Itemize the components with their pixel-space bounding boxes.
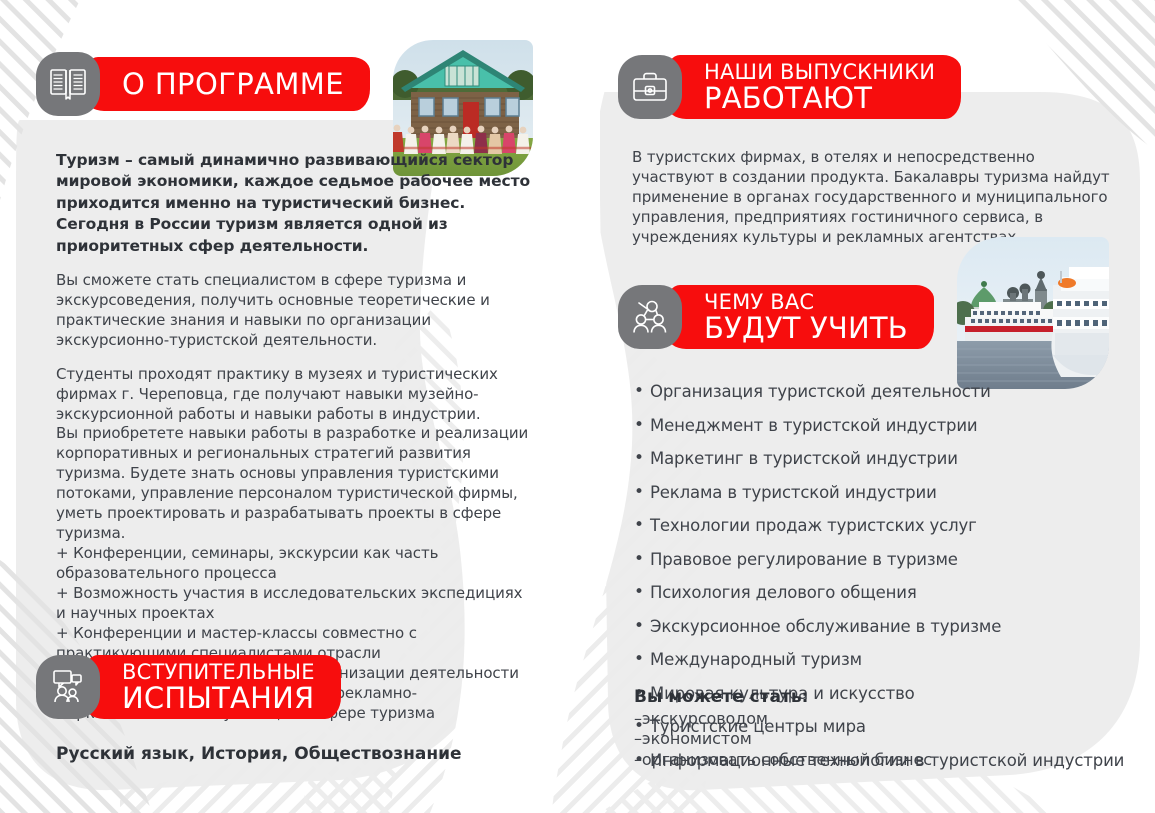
open-book-icon (36, 52, 100, 116)
list-item: Организация туристской деятельности (634, 384, 1134, 401)
list-item: Менеджмент в туристской индустрии (634, 418, 1134, 435)
list-item: Международный туризм (634, 652, 1134, 669)
about-paragraph-1: Вы сможете стать специалистом в сфере ту… (56, 271, 536, 351)
banner-about: О ПРОГРАММЕ (36, 52, 370, 116)
graduates-title-line1: НАШИ ВЫПУСКНИКИ (704, 62, 935, 83)
exams-title-ribbon: ВСТУПИТЕЛЬНЫЕ ИСПЫТАНИЯ (84, 655, 341, 719)
about-title-ribbon: О ПРОГРАММЕ (84, 57, 370, 111)
list-item: Психология делового общения (634, 585, 1134, 602)
group-teaching-icon (618, 285, 682, 349)
become-item: –экономистом (634, 729, 1104, 749)
curriculum-title-line2: БУДУТ УЧИТЬ (704, 314, 908, 343)
become-title: Вы можете стать: (634, 687, 1104, 707)
banner-exams: ВСТУПИТЕЛЬНЫЕ ИСПЫТАНИЯ (36, 655, 341, 719)
banner-graduates: НАШИ ВЫПУСКНИКИ РАБОТАЮТ (618, 55, 961, 119)
list-item: Реклама в туристской индустрии (634, 485, 1134, 502)
list-item: Правовое регулирование в туризме (634, 552, 1134, 569)
list-item: Маркетинг в туристской индустрии (634, 451, 1134, 468)
exams-subjects-block: Русский язык, История, Обществознание (56, 744, 526, 764)
curriculum-title-line1: ЧЕМУ ВАС (704, 292, 908, 313)
graduates-title-line2: РАБОТАЮТ (704, 84, 935, 113)
become-block: Вы можете стать: –экскурсоводом –экономи… (634, 687, 1104, 770)
banner-curriculum: ЧЕМУ ВАС БУДУТ УЧИТЬ (618, 285, 934, 349)
exams-subjects: Русский язык, История, Обществознание (56, 744, 526, 764)
photo-river-cruise (957, 237, 1109, 389)
about-text-column: Туризм – самый динамично развивающийся с… (56, 150, 536, 724)
discussion-people-icon (36, 655, 100, 719)
about-title: О ПРОГРАММЕ (122, 70, 344, 99)
curriculum-title-ribbon: ЧЕМУ ВАС БУДУТ УЧИТЬ (666, 285, 934, 349)
become-item: –экскурсоводом (634, 709, 1104, 729)
brochure-page: О ПРОГРАММЕ (0, 0, 1155, 813)
graduates-body: В туристских фирмах, в отелях и непосред… (632, 148, 1112, 248)
list-item: Экскурсионное обслуживание в туризме (634, 619, 1134, 636)
about-lead-paragraph: Туризм – самый динамично развивающийся с… (56, 150, 536, 257)
become-item: –организовать собственный бизнес (634, 750, 1104, 770)
graduates-title-ribbon: НАШИ ВЫПУСКНИКИ РАБОТАЮТ (666, 55, 961, 119)
graduates-text-block: В туристских фирмах, в отелях и непосред… (632, 148, 1112, 248)
exams-title-line1: ВСТУПИТЕЛЬНЫЕ (122, 662, 315, 683)
briefcase-icon (618, 55, 682, 119)
exams-title-line2: ИСПЫТАНИЯ (122, 684, 315, 713)
list-item: Технологии продаж туристских услуг (634, 518, 1134, 535)
